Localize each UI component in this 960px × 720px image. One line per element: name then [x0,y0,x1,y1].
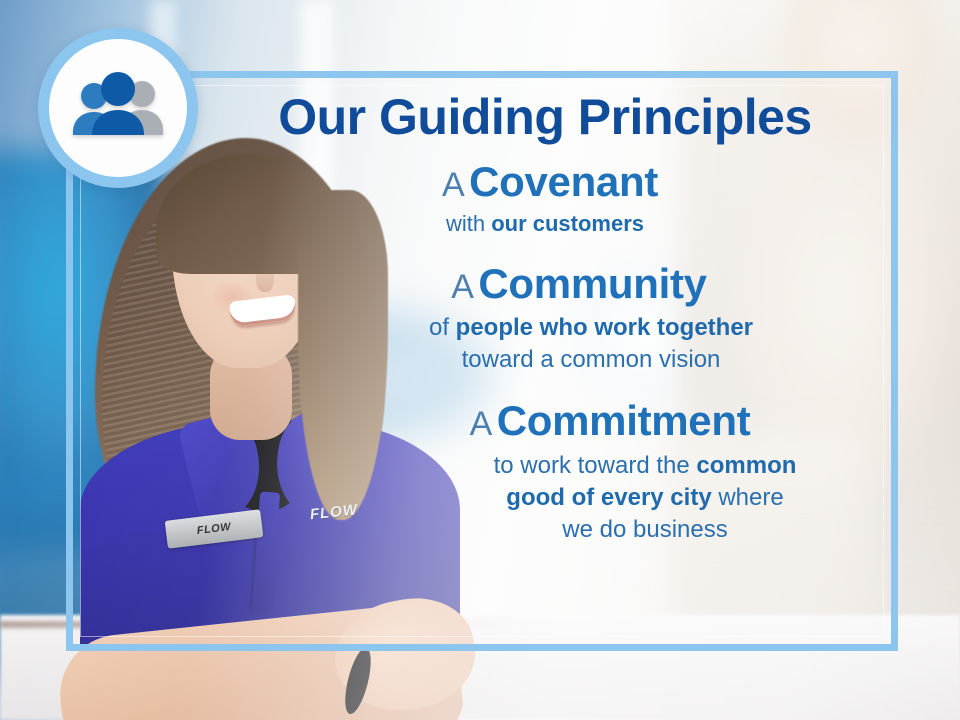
subtext-line: to work toward the common [400,450,890,482]
subtext-plain: where [712,484,784,511]
principle-word: Community [478,260,706,307]
subtext-emphasis: good of every city [506,484,711,511]
subtext-plain: with [446,211,491,236]
people-group-icon [66,71,170,145]
principle-covenant: A Covenant with our customers [200,158,890,238]
principle-subtext: with our customers [200,209,890,238]
principle-heading: A Commitment [330,397,890,444]
principle-heading: A Covenant [210,158,890,205]
text-content: Our Guiding Principles A Covenant with o… [200,90,890,547]
subtext-emphasis: common [696,452,796,479]
subtext-emphasis: people who work together [456,314,753,341]
principle-community: A Community of people who work togethert… [200,260,890,375]
principle-subtext: to work toward the commongood of every c… [400,450,890,545]
principle-article: A [442,166,465,204]
subtext-plain: of [429,314,456,341]
principle-heading: A Community [268,260,890,307]
subtext-plain: we do business [562,516,727,543]
subtext-line: with our customers [200,209,890,238]
subtext-line: we do business [400,514,890,546]
subtext-plain: to work toward the [494,452,697,479]
people-group-icon-badge [38,28,198,188]
principle-commitment: A Commitment to work toward the commongo… [200,397,890,545]
subtext-emphasis: our customers [491,211,644,236]
principle-article: A [470,405,493,443]
subtext-plain: toward a common vision [462,346,721,373]
principle-article: A [451,268,474,306]
promo-graphic: FLOW FLOW Our Guiding Principles [0,0,960,720]
subtext-line: toward a common vision [292,344,890,376]
subtext-line: good of every city where [400,482,890,514]
principle-word: Covenant [469,158,658,205]
principle-word: Commitment [497,397,751,444]
principle-subtext: of people who work togethertoward a comm… [292,312,890,375]
subtext-line: of people who work together [292,312,890,344]
page-title: Our Guiding Principles [200,90,890,144]
